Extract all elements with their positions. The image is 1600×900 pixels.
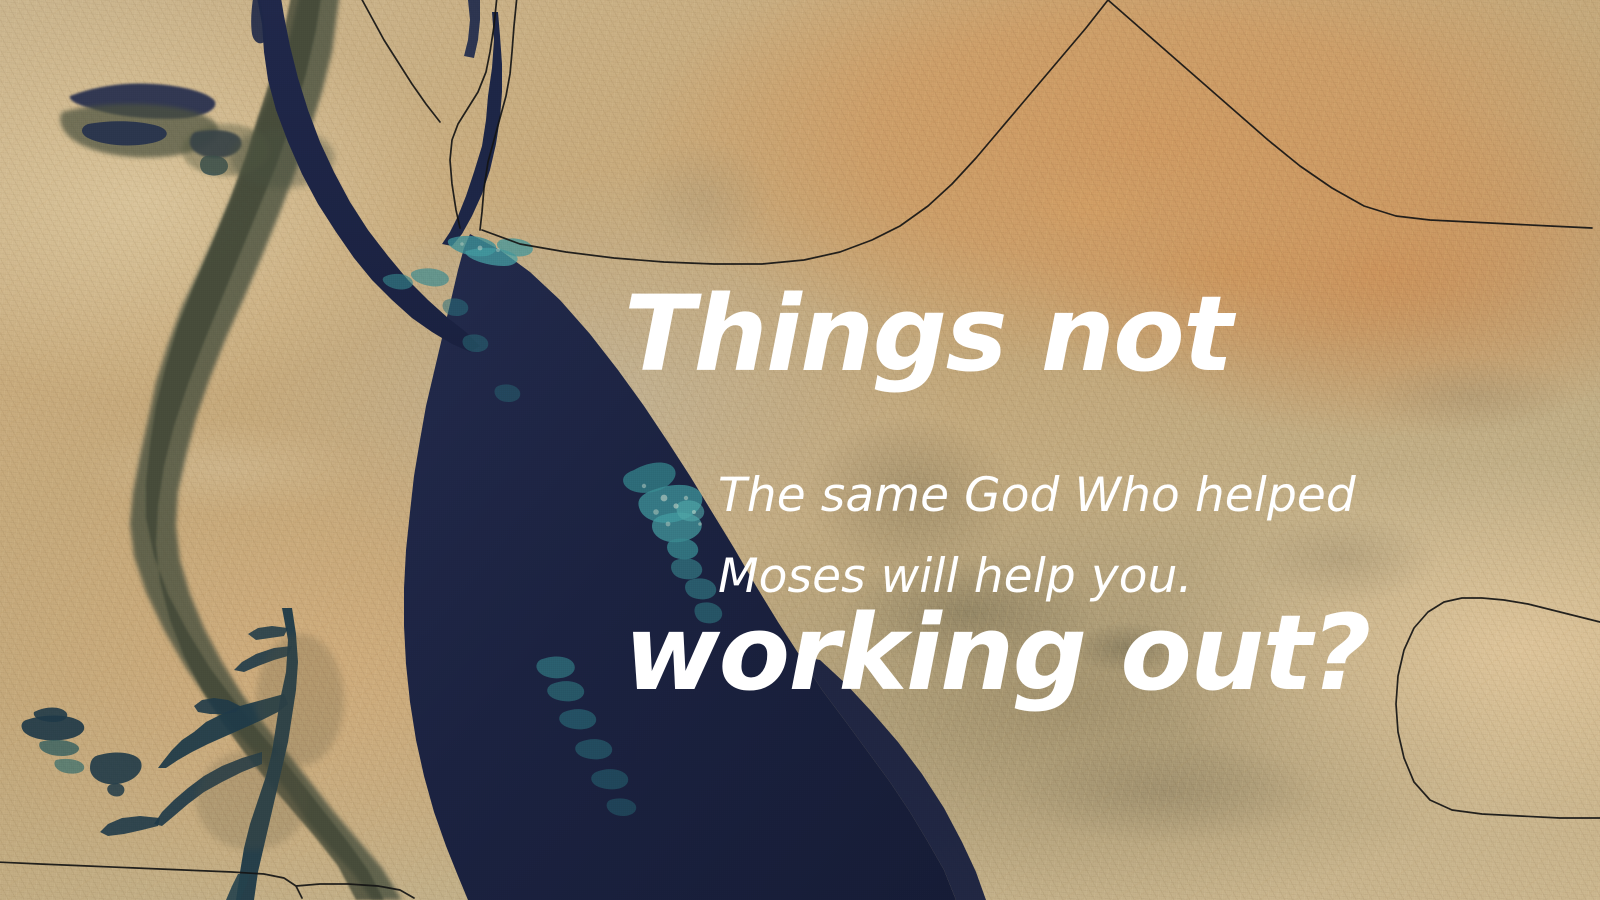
subtitle-line-1: The same God Who helped [718,456,1438,537]
headline-line-1: Things not [624,250,1424,418]
quote-slide: Things not working out? The same God Who… [0,0,1600,900]
subtitle-line-2: Moses will help you. [718,537,1438,618]
subtitle-text: The same God Who helped Moses will help … [718,456,1438,618]
